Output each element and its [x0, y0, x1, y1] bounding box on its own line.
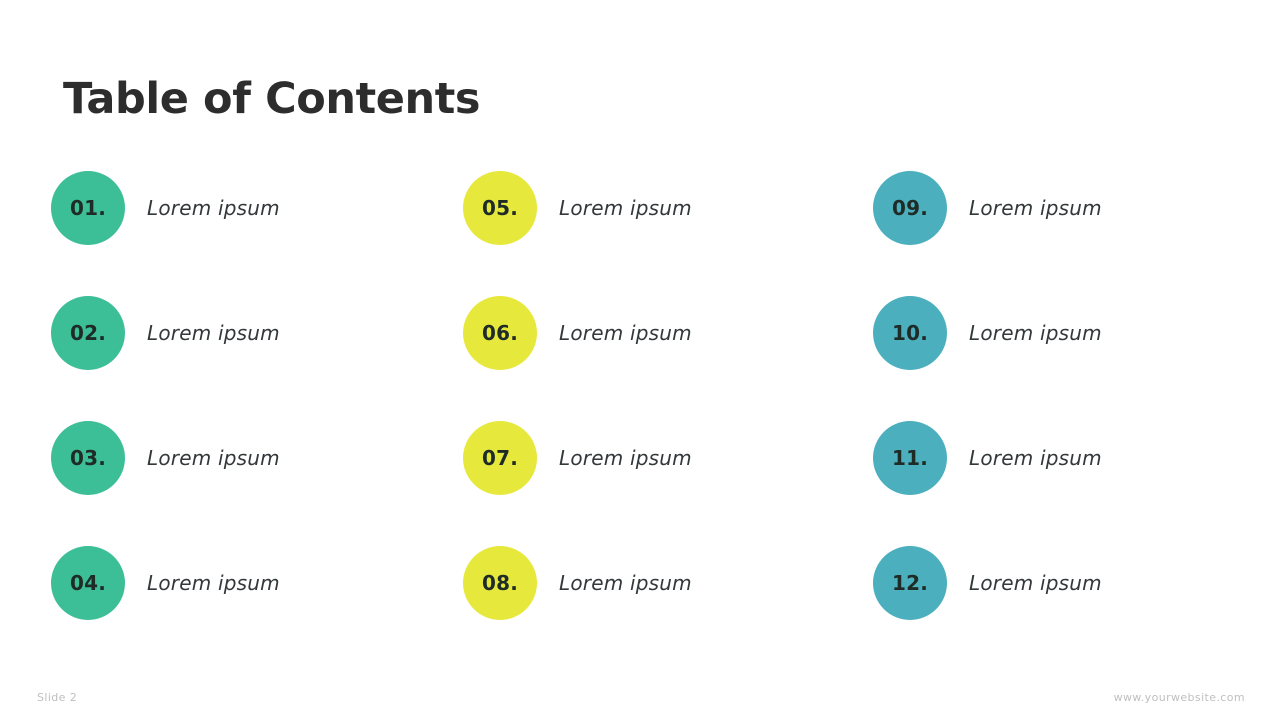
- item-number: 01.: [70, 198, 106, 218]
- item-number: 09.: [892, 198, 928, 218]
- item-label[interactable]: Lorem ipsum: [969, 571, 1102, 595]
- website-url-label[interactable]: www.yourwebsite.com: [1114, 691, 1245, 704]
- item-number-badge[interactable]: 01.: [51, 171, 125, 245]
- item-number-badge[interactable]: 04.: [51, 546, 125, 620]
- slide-number-label: Slide 2: [37, 691, 77, 704]
- list-item[interactable]: 03. Lorem ipsum: [51, 421, 471, 495]
- item-number: 03.: [70, 448, 106, 468]
- list-item[interactable]: 08. Lorem ipsum: [463, 546, 883, 620]
- item-number: 11.: [892, 448, 928, 468]
- item-label[interactable]: Lorem ipsum: [969, 321, 1102, 345]
- item-number: 08.: [482, 573, 518, 593]
- decorative-corner-cluster: [1080, 0, 1280, 130]
- item-number-badge[interactable]: 11.: [873, 421, 947, 495]
- item-number: 10.: [892, 323, 928, 343]
- list-item[interactable]: 06. Lorem ipsum: [463, 296, 883, 370]
- list-item[interactable]: 01. Lorem ipsum: [51, 171, 471, 245]
- item-label[interactable]: Lorem ipsum: [559, 196, 692, 220]
- list-item[interactable]: 04. Lorem ipsum: [51, 546, 471, 620]
- item-number: 06.: [482, 323, 518, 343]
- page-title: Table of Contents: [63, 74, 480, 124]
- item-label[interactable]: Lorem ipsum: [147, 446, 280, 470]
- item-number: 12.: [892, 573, 928, 593]
- slide-canvas: Table of Contents 01. Lorem ipsum 02. Lo…: [0, 0, 1280, 720]
- item-number-badge[interactable]: 05.: [463, 171, 537, 245]
- item-label[interactable]: Lorem ipsum: [147, 196, 280, 220]
- item-number-badge[interactable]: 12.: [873, 546, 947, 620]
- item-number-badge[interactable]: 08.: [463, 546, 537, 620]
- item-label[interactable]: Lorem ipsum: [559, 321, 692, 345]
- item-label[interactable]: Lorem ipsum: [969, 446, 1102, 470]
- item-number: 02.: [70, 323, 106, 343]
- list-item[interactable]: 12. Lorem ipsum: [873, 546, 1280, 620]
- item-label[interactable]: Lorem ipsum: [969, 196, 1102, 220]
- item-label[interactable]: Lorem ipsum: [147, 321, 280, 345]
- list-item[interactable]: 09. Lorem ipsum: [873, 171, 1280, 245]
- item-label[interactable]: Lorem ipsum: [559, 446, 692, 470]
- item-number-badge[interactable]: 06.: [463, 296, 537, 370]
- item-number: 05.: [482, 198, 518, 218]
- item-number-badge[interactable]: 02.: [51, 296, 125, 370]
- list-item[interactable]: 11. Lorem ipsum: [873, 421, 1280, 495]
- item-number: 04.: [70, 573, 106, 593]
- item-number-badge[interactable]: 09.: [873, 171, 947, 245]
- list-item[interactable]: 10. Lorem ipsum: [873, 296, 1280, 370]
- item-number-badge[interactable]: 03.: [51, 421, 125, 495]
- list-item[interactable]: 02. Lorem ipsum: [51, 296, 471, 370]
- item-number: 07.: [482, 448, 518, 468]
- list-item[interactable]: 05. Lorem ipsum: [463, 171, 883, 245]
- item-number-badge[interactable]: 10.: [873, 296, 947, 370]
- item-label[interactable]: Lorem ipsum: [559, 571, 692, 595]
- item-number-badge[interactable]: 07.: [463, 421, 537, 495]
- item-label[interactable]: Lorem ipsum: [147, 571, 280, 595]
- list-item[interactable]: 07. Lorem ipsum: [463, 421, 883, 495]
